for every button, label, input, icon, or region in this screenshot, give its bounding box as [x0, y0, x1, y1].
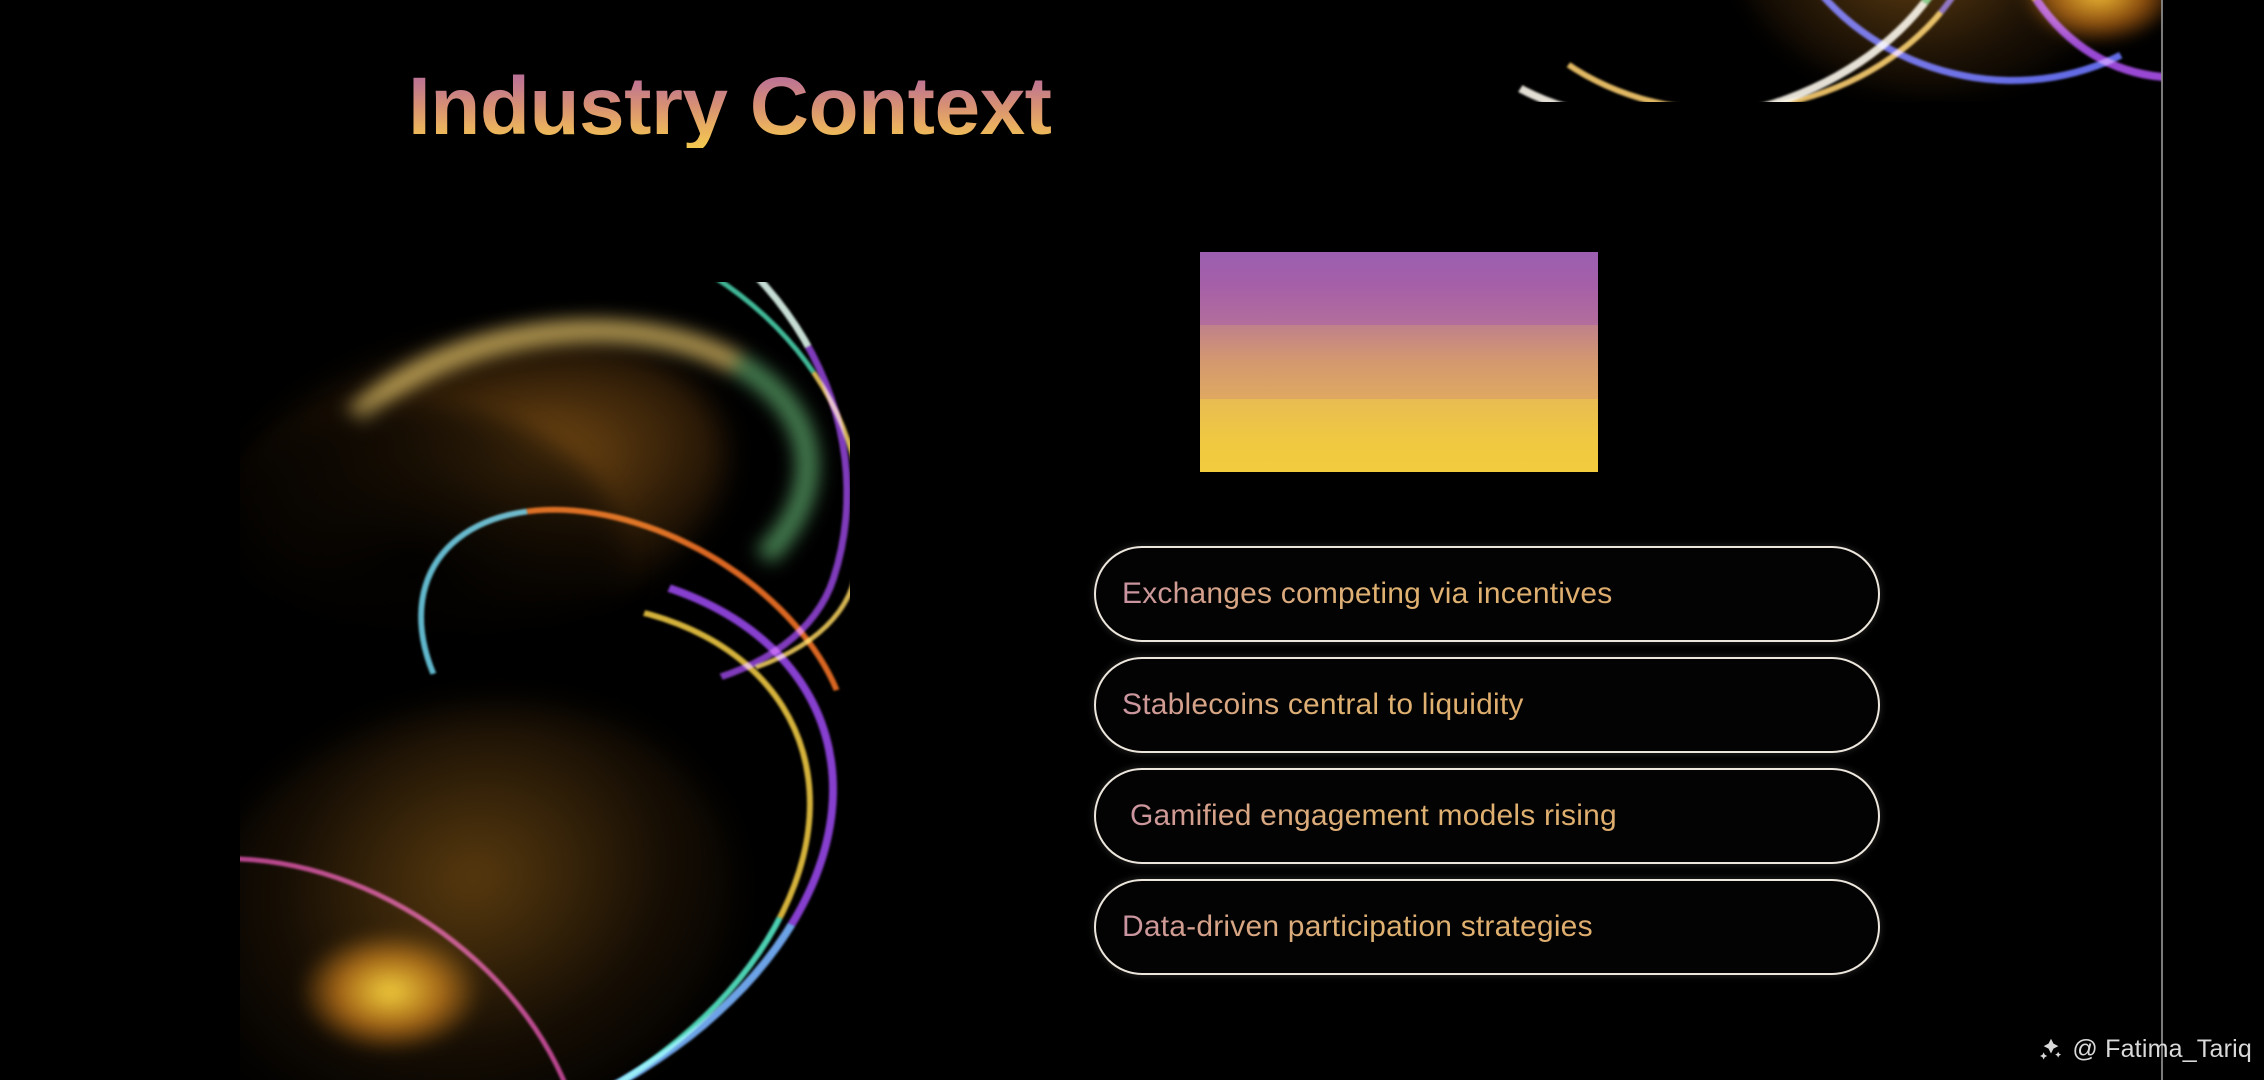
- trend-pill-list: Exchanges competing via incentives Stabl…: [1094, 546, 1880, 990]
- trend-pill-4[interactable]: Data-driven participation strategies: [1094, 879, 1880, 975]
- bubble-left-yellow-hotspot: [300, 932, 480, 1052]
- trend-pill-3-label: Gamified engagement models rising: [1096, 799, 1617, 833]
- trend-pill-3[interactable]: Gamified engagement models rising: [1094, 768, 1880, 864]
- bubble-image-left: [240, 282, 850, 1080]
- headline-line-2: MARKET: [1200, 325, 1598, 398]
- headline-line-3: TREND: [1200, 399, 1598, 472]
- bubble-image-top-right: [1434, 0, 2162, 102]
- watermark[interactable]: @ Fatima_Tariq: [2038, 1035, 2252, 1064]
- trend-pill-1-label: Exchanges competing via incentives: [1096, 577, 1612, 611]
- trend-pill-4-label: Data-driven participation strategies: [1096, 910, 1593, 944]
- headline-line-1: BROADER: [1200, 252, 1598, 325]
- trend-pill-2[interactable]: Stablecoins central to liquidity: [1094, 657, 1880, 753]
- headline-block: BROADER MARKET TREND: [1200, 252, 1598, 472]
- watermark-handle: @ Fatima_Tariq: [2072, 1035, 2252, 1064]
- trend-pill-1[interactable]: Exchanges competing via incentives: [1094, 546, 1880, 642]
- page-title: Industry Context: [408, 66, 1051, 148]
- slide-canvas: Industry Context BROADER MARKET TREND Ex…: [0, 0, 2264, 1080]
- slide-edge-rule: [2161, 0, 2163, 1080]
- canva-sparkle-icon: [2038, 1037, 2064, 1063]
- trend-pill-2-label: Stablecoins central to liquidity: [1096, 688, 1524, 722]
